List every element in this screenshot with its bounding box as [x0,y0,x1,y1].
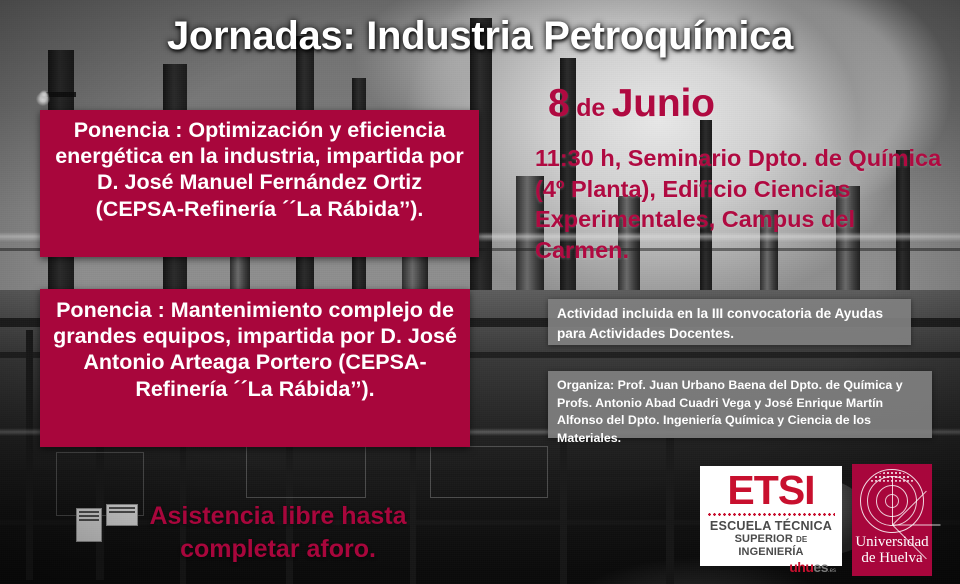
admission-note: Asistencia libre hasta completar aforo. [108,500,448,566]
funding-note: Actividad incluida en la III convocatori… [548,299,911,345]
event-venue: 11:30 h, Seminario Dpto. de Química (4º … [535,143,953,265]
logo-group: ETSI ESCUELA TÉCNICA SUPERIOR DE INGENIE… [700,466,932,576]
etsi-line-1: ESCUELA TÉCNICA [706,519,836,533]
etsi-line-2-de: DE [796,535,807,544]
uhu-wordmark-red: uhu [789,559,813,575]
etsi-line-2-a: SUPERIOR [735,533,796,545]
poster-canvas: Jornadas: Industria Petroquímica Ponenci… [0,0,960,584]
etsi-line-2-b: INGENIERÍA [738,546,803,558]
organizers-note: Organiza: Prof. Juan Urbano Baena del Dp… [548,371,932,438]
talk-2-text: Ponencia : Mantenimiento complejo de gra… [53,298,457,401]
etsi-logo: ETSI ESCUELA TÉCNICA SUPERIOR DE INGENIE… [700,466,842,566]
talk-1-text: Ponencia : Optimización y eficiencia ene… [55,118,464,221]
university-seal-icon [860,469,924,533]
event-date: 8 de Junio [548,82,948,126]
talk-card-1: Ponencia : Optimización y eficiencia ene… [40,110,479,257]
page-title: Jornadas: Industria Petroquímica [0,14,960,59]
talk-card-2: Ponencia : Mantenimiento complejo de gra… [40,289,470,447]
etsi-line-2: SUPERIOR DE INGENIERÍA [706,533,836,559]
event-date-month: Junio [612,82,715,125]
uhu-wordmark-gray: es [813,559,828,575]
event-date-connector: de [570,94,612,122]
university-name-line-1: Universidad [852,534,932,550]
event-date-day: 8 [548,82,570,125]
uhu-wordmark-domain: .es [828,568,836,574]
etsi-acronym: ETSI [706,470,836,510]
uhu-es-wordmark: uhues.es [706,561,836,578]
universidad-de-huelva-logo: Universidad de Huelva [852,464,932,576]
etsi-dotted-rule [707,513,835,516]
